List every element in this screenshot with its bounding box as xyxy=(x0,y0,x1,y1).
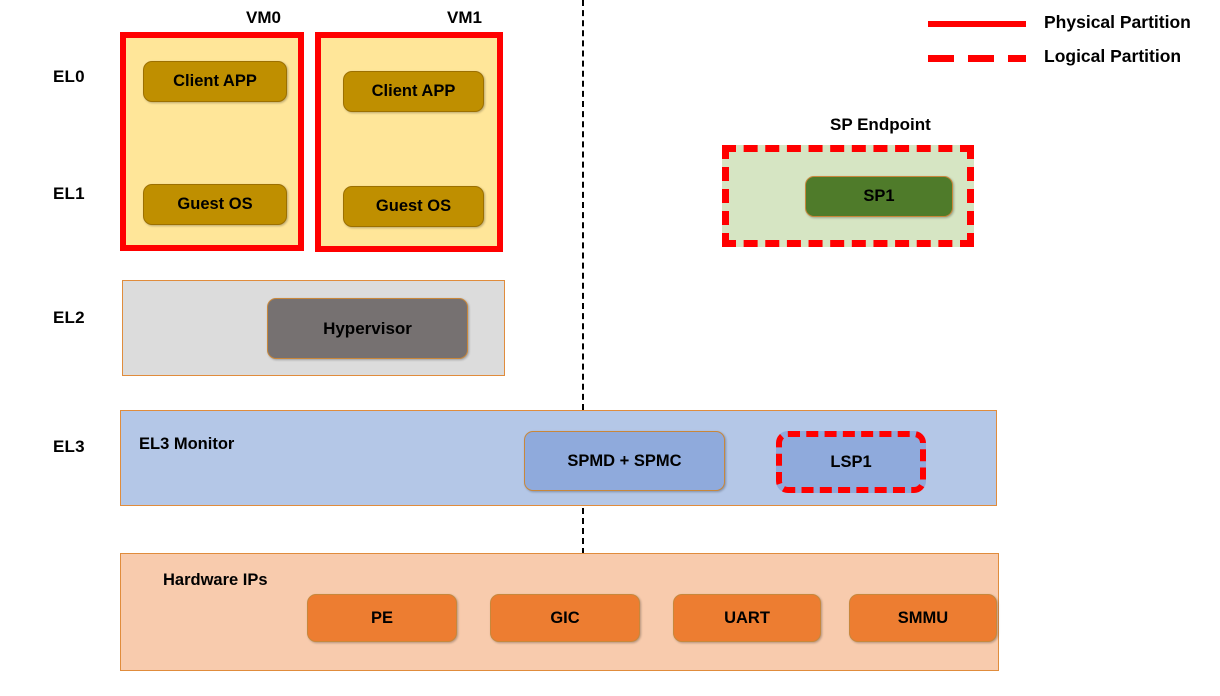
secure-world-divider-lower xyxy=(582,508,584,554)
secure-world-divider-upper xyxy=(582,0,584,410)
row-label-el1: EL1 xyxy=(53,184,85,204)
legend-swatch-physical-partition xyxy=(928,21,1026,27)
vm1-partition-box[interactable]: Client APP Guest OS xyxy=(315,32,503,252)
hardware-box-uart[interactable]: UART xyxy=(673,594,821,642)
legend-label-logical-partition: Logical Partition xyxy=(1044,46,1181,67)
legend-swatch-logical-partition xyxy=(928,55,1026,62)
vm1-guest-os-box[interactable]: Guest OS xyxy=(343,186,484,227)
sp-endpoint-partition-box[interactable]: SP1 xyxy=(722,145,974,247)
hardware-box-pe[interactable]: PE xyxy=(307,594,457,642)
vm0-guest-os-box[interactable]: Guest OS xyxy=(143,184,287,225)
hardware-ips-caption: Hardware IPs xyxy=(163,571,268,590)
vm0-client-app-box[interactable]: Client APP xyxy=(143,61,287,102)
hardware-box-gic[interactable]: GIC xyxy=(490,594,640,642)
spmd-spmc-box[interactable]: SPMD + SPMC xyxy=(524,431,725,491)
sp-endpoint-title: SP Endpoint xyxy=(830,115,931,135)
row-label-el0: EL0 xyxy=(53,67,85,87)
vm1-client-app-box[interactable]: Client APP xyxy=(343,71,484,112)
el3-monitor-caption: EL3 Monitor xyxy=(139,435,234,454)
legend-label-physical-partition: Physical Partition xyxy=(1044,12,1191,33)
sp1-box[interactable]: SP1 xyxy=(805,176,953,217)
legend: Physical Partition Logical Partition xyxy=(928,12,1212,74)
hardware-box-smmu[interactable]: SMMU xyxy=(849,594,997,642)
el2-band: Hypervisor xyxy=(122,280,505,376)
row-label-el3: EL3 xyxy=(53,437,85,457)
hypervisor-box[interactable]: Hypervisor xyxy=(267,298,468,359)
lsp1-box[interactable]: LSP1 xyxy=(776,431,926,493)
vm1-title: VM1 xyxy=(447,8,482,28)
hardware-band: Hardware IPs PE GIC UART SMMU xyxy=(120,553,999,671)
diagram-canvas: Physical Partition Logical Partition EL0… xyxy=(0,0,1220,696)
el3-band: EL3 Monitor SPMD + SPMC LSP1 xyxy=(120,410,997,506)
vm0-partition-box[interactable]: Client APP Guest OS xyxy=(120,32,304,251)
row-label-el2: EL2 xyxy=(53,308,85,328)
vm0-title: VM0 xyxy=(246,8,281,28)
